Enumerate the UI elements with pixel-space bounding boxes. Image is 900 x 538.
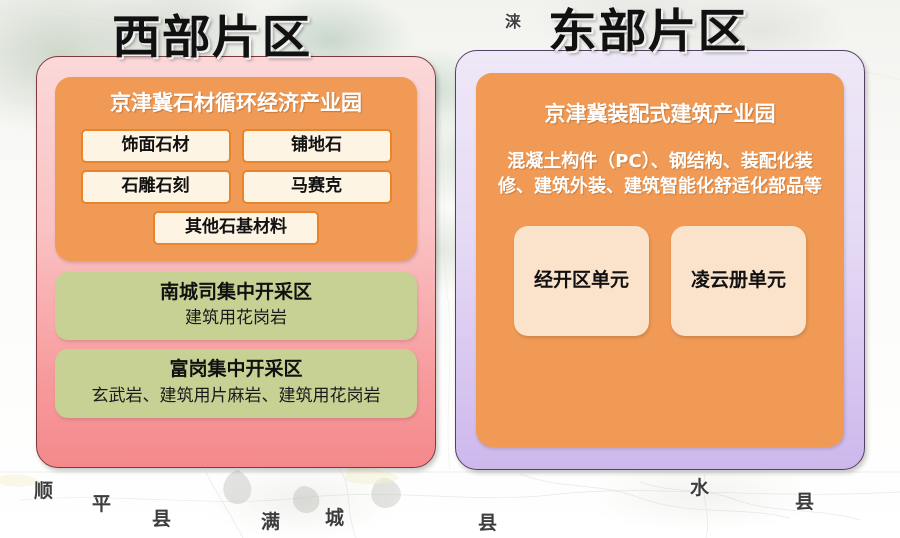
west-tag-row-2: 石雕石刻 马赛克 [69,170,403,204]
zone-title: 富岗集中开采区 [67,357,405,382]
east-unit-lingyunce[interactable]: 凌云册单元 [671,226,806,336]
map-label: 平 [92,489,111,516]
map-label: 县 [478,508,497,535]
east-park-description: 混凝土构件（PC）、钢结构、装配化装修、建筑外装、建筑智能化舒适化部品等 [496,149,824,200]
zone-description: 建筑用花岗岩 [67,307,405,330]
map-label: 县 [152,504,171,531]
east-unit-jingkaiqu[interactable]: 经开区单元 [514,226,649,336]
east-section-title: 东部片区 [548,8,747,54]
east-park-title: 京津冀装配式建筑产业园 [496,101,824,129]
map-label: 满 [261,507,280,534]
west-industrial-park-card: 京津冀石材循环经济产业园 饰面石材 铺地石 石雕石刻 马赛克 其他石基材料 [55,77,417,261]
east-unit-row: 经开区单元 凌云册单元 [496,226,824,336]
west-tag-mosaic[interactable]: 马赛克 [242,170,392,204]
west-tag-row-3: 其他石基材料 [69,211,403,245]
east-industrial-park-card: 京津冀装配式建筑产业园 混凝土构件（PC）、钢结构、装配化装修、建筑外装、建筑智… [476,73,844,447]
map-label: 城 [325,503,344,530]
west-section-title: 西部片区 [112,14,311,60]
west-mining-zone-nanchengsi: 南城司集中开采区 建筑用花岗岩 [55,272,417,341]
west-tag-other-stone-materials[interactable]: 其他石基材料 [153,211,319,245]
map-label: 顺 [34,476,53,503]
west-tag-decorative-stone[interactable]: 饰面石材 [81,129,231,163]
map-label: 水 [690,473,709,500]
infographic-canvas: 涞 顺 平 县 满 城 县 水 县 京津冀石材循环经济产业园 饰面石材 铺地石 … [0,0,900,538]
west-tag-stone-carving[interactable]: 石雕石刻 [81,170,231,204]
west-park-title: 京津冀石材循环经济产业园 [69,90,403,118]
zone-title: 南城司集中开采区 [67,280,405,305]
map-label: 县 [795,487,814,514]
west-tag-paving-stone[interactable]: 铺地石 [242,129,392,163]
east-region-panel: 京津冀装配式建筑产业园 混凝土构件（PC）、钢结构、装配化装修、建筑外装、建筑智… [455,50,865,470]
west-tag-row-1: 饰面石材 铺地石 [69,129,403,163]
west-mining-zone-fugang: 富岗集中开采区 玄武岩、建筑用片麻岩、建筑用花岗岩 [55,349,417,418]
map-label: 涞 [505,8,521,32]
west-region-panel: 京津冀石材循环经济产业园 饰面石材 铺地石 石雕石刻 马赛克 其他石基材料 南城… [36,56,436,468]
zone-description: 玄武岩、建筑用片麻岩、建筑用花岗岩 [67,385,405,408]
